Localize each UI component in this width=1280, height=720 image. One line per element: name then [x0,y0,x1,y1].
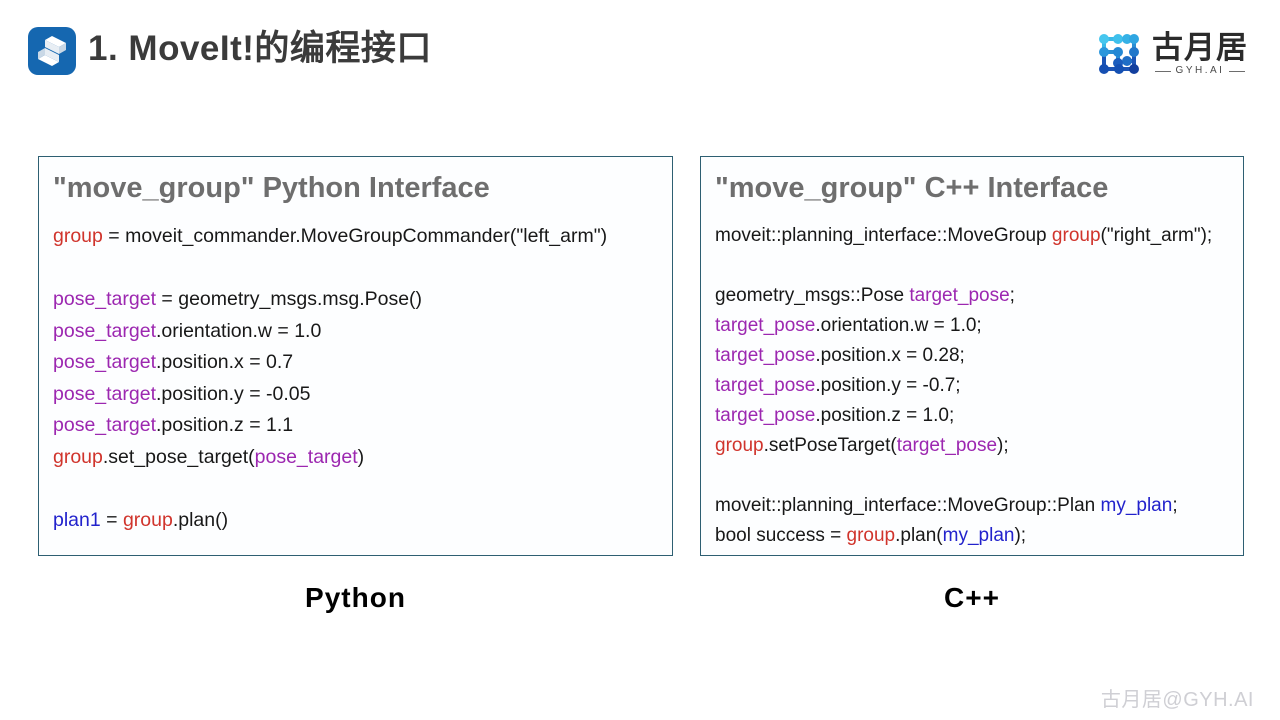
code-line: target_pose.position.x = 0.28; [715,341,1233,371]
code-line: plan1 = group.plan() [53,505,662,537]
python-code-panel: "move_group" Python Interface group = mo… [38,156,673,556]
code-token: .position.y = -0.05 [156,383,310,405]
moveit-cube-icon [28,27,76,75]
code-token: pose_target [255,446,358,468]
code-token: group [53,446,103,468]
code-token: target_pose [715,315,815,336]
code-token: ("right_arm"); [1101,225,1213,246]
brand-en-row: GYH.AI [1155,65,1246,77]
code-token: target_pose [897,435,997,456]
code-token: .orientation.w = 1.0 [156,320,321,342]
code-line: group.setPoseTarget(target_pose); [715,431,1233,461]
code-line: target_pose.position.z = 1.0; [715,401,1233,431]
brand-logo: 古月居 GYH.AI [1094,28,1248,80]
code-token: geometry_msgs::Pose [715,285,909,306]
code-token: .plan( [895,525,943,546]
brand-en-name: GYH.AI [1176,65,1225,77]
code-line [53,253,662,285]
python-code-body: group = moveit_commander.MoveGroupComman… [53,221,662,536]
code-token: moveit::planning_interface::MoveGroup [715,225,1052,246]
cpp-panel-heading: "move_group" C++ Interface [715,169,1233,207]
code-token: .position.z = 1.1 [156,414,293,436]
code-line [715,251,1233,281]
code-token: group [847,525,896,546]
brand-text: 古月居 GYH.AI [1152,31,1248,77]
code-token: target_pose [715,375,815,396]
code-token: pose_target [53,288,156,310]
code-token: my_plan [1101,495,1173,516]
brand-cn-name: 古月居 [1152,31,1248,64]
brand-rule-left [1155,71,1171,72]
code-token: pose_target [53,383,156,405]
code-token: ; [1010,285,1015,306]
watermark: 古月居@GYH.AI [1101,683,1254,712]
code-line: pose_target.position.z = 1.1 [53,410,662,442]
code-line: moveit::planning_interface::MoveGroup gr… [715,221,1233,251]
slide-header: 1. MoveIt!的编程接口 [0,0,1280,105]
code-line: geometry_msgs::Pose target_pose; [715,281,1233,311]
code-token: group [715,435,764,456]
code-token: ); [1014,525,1026,546]
code-line: pose_target.position.x = 0.7 [53,347,662,379]
code-token: target_pose [909,285,1009,306]
code-line [715,461,1233,491]
code-token: = moveit_commander.MoveGroupCommander("l… [103,225,607,247]
code-token: bool success = [715,525,847,546]
code-token: .position.y = -0.7; [815,375,960,396]
code-token: group [53,225,103,247]
code-line: bool success = group.plan(my_plan); [715,521,1233,551]
gyh-node-graph-icon [1094,30,1144,78]
code-line [53,473,662,505]
code-token: ; [1172,495,1177,516]
code-token: plan1 [53,509,101,531]
code-token: .plan() [173,509,228,531]
code-line: target_pose.position.y = -0.7; [715,371,1233,401]
code-token: pose_target [53,414,156,436]
cpp-caption: C++ [700,582,1244,614]
code-token: = geometry_msgs.msg.Pose() [156,288,422,310]
code-token: target_pose [715,345,815,366]
code-token: ) [358,446,365,468]
code-token: moveit::planning_interface::MoveGroup::P… [715,495,1101,516]
cpp-code-panel: "move_group" C++ Interface moveit::plann… [700,156,1244,556]
code-token: ); [997,435,1009,456]
python-caption: Python [38,582,673,614]
code-token: .set_pose_target( [103,446,255,468]
code-token: target_pose [715,405,815,426]
code-token: .orientation.w = 1.0; [815,315,981,336]
code-token: pose_target [53,320,156,342]
code-token: .position.x = 0.7 [156,351,293,373]
code-line: target_pose.orientation.w = 1.0; [715,311,1233,341]
code-token: group [1052,225,1101,246]
code-line: group.set_pose_target(pose_target) [53,442,662,474]
cpp-code-body: moveit::planning_interface::MoveGroup gr… [715,221,1233,551]
code-line: moveit::planning_interface::MoveGroup::P… [715,491,1233,521]
code-token: group [123,509,173,531]
code-line: pose_target.position.y = -0.05 [53,379,662,411]
code-line: group = moveit_commander.MoveGroupComman… [53,221,662,253]
code-token: pose_target [53,351,156,373]
code-token: = [101,509,123,531]
code-line: pose_target = geometry_msgs.msg.Pose() [53,284,662,316]
code-token: .position.x = 0.28; [815,345,964,366]
code-token: my_plan [943,525,1015,546]
page-title: 1. MoveIt!的编程接口 [88,23,432,75]
brand-rule-right [1229,71,1245,72]
python-panel-heading: "move_group" Python Interface [53,169,662,207]
code-line: pose_target.orientation.w = 1.0 [53,316,662,348]
code-token: .position.z = 1.0; [815,405,954,426]
code-token: .setPoseTarget( [764,435,897,456]
